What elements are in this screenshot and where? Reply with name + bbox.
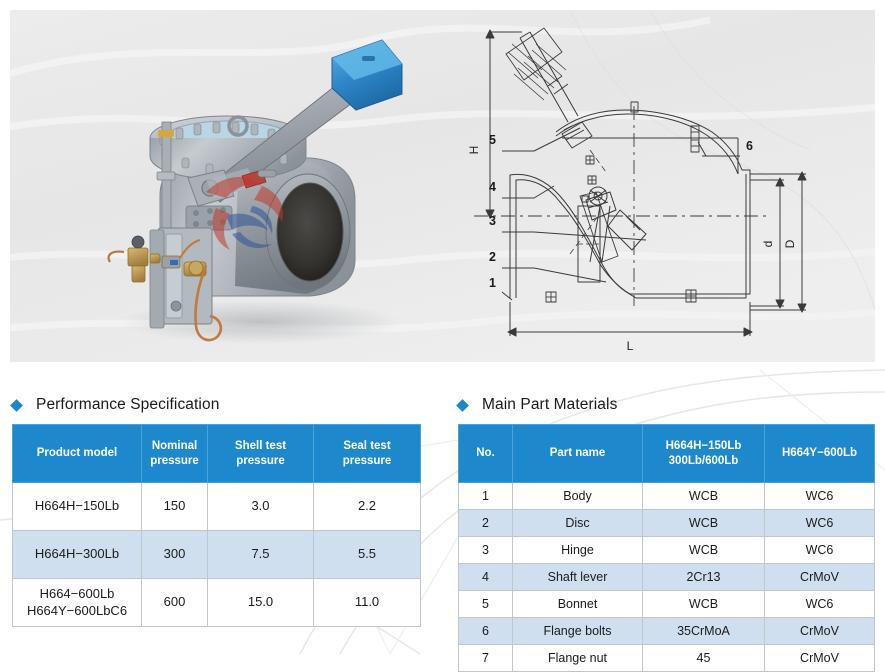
cell-shell: 3.0 <box>208 483 314 531</box>
cell-material-h664h: WCB <box>643 537 765 564</box>
table-row: 7 Flange nut 45 CrMoV <box>459 645 875 672</box>
cell-material-h664h: WCB <box>643 591 765 618</box>
cell-material-h664h: WCB <box>643 483 765 510</box>
col-header-shell-test-pressure: Shell test pressure <box>208 425 314 483</box>
col-header-h664y: H664Y−600Lb <box>765 425 875 483</box>
cell-no: 2 <box>459 510 513 537</box>
cell-no: 7 <box>459 645 513 672</box>
table-header-row: Product model Nominal pressure Shell tes… <box>13 425 421 483</box>
table-row: 5 Bonnet WCB WC6 <box>459 591 875 618</box>
cell-material-h664h: WCB <box>643 510 765 537</box>
dim-label-d-inner: d <box>761 241 775 248</box>
col-header-seal-test-pressure: Seal test pressure <box>314 425 421 483</box>
cell-no: 5 <box>459 591 513 618</box>
cell-material-h664h: 35CrMoA <box>643 618 765 645</box>
cell-part-name: Body <box>513 483 643 510</box>
section-title-performance: Performance Specification <box>36 396 219 414</box>
cell-part-name: Bonnet <box>513 591 643 618</box>
table-header-row: No. Part name H664H−150Lb 300Lb/600Lb H6… <box>459 425 875 483</box>
table-row: 3 Hinge WCB WC6 <box>459 537 875 564</box>
cell-no: 3 <box>459 537 513 564</box>
table-row: H664−600Lb H664Y−600LbC6 600 15.0 11.0 <box>13 579 421 627</box>
cell-shell: 7.5 <box>208 531 314 579</box>
col-header-part-name: Part name <box>513 425 643 483</box>
dim-label-l: L <box>627 339 634 353</box>
table-row: 4 Shaft lever 2Cr13 CrMoV <box>459 564 875 591</box>
col-header-no: No. <box>459 425 513 483</box>
cell-no: 6 <box>459 618 513 645</box>
cell-material-h664y: CrMoV <box>765 618 875 645</box>
cell-material-h664y: CrMoV <box>765 564 875 591</box>
cell-model: H664H−150Lb <box>13 483 142 531</box>
performance-specification-table: Product model Nominal pressure Shell tes… <box>12 424 421 627</box>
cell-no: 4 <box>459 564 513 591</box>
main-part-materials-table: No. Part name H664H−150Lb 300Lb/600Lb H6… <box>458 424 875 672</box>
cell-material-h664y: WC6 <box>765 483 875 510</box>
col-header-nominal-pressure: Nominal pressure <box>142 425 208 483</box>
cell-material-h664h: 45 <box>643 645 765 672</box>
table-row: H664H−300Lb 300 7.5 5.5 <box>13 531 421 579</box>
cell-material-h664y: CrMoV <box>765 645 875 672</box>
cell-model: H664H−300Lb <box>13 531 142 579</box>
diamond-bullet-icon <box>456 399 469 412</box>
dim-label-d-outer: D <box>783 239 797 248</box>
section-title-materials: Main Part Materials <box>482 396 617 414</box>
callout-3: 3 <box>489 214 496 228</box>
table-row: H664H−150Lb 150 3.0 2.2 <box>13 483 421 531</box>
callout-2: 2 <box>489 250 496 264</box>
cell-model: H664−600Lb H664Y−600LbC6 <box>13 579 142 627</box>
dim-label-h: H <box>467 146 481 155</box>
table-row: 1 Body WCB WC6 <box>459 483 875 510</box>
callout-4: 4 <box>489 180 496 194</box>
col-header-h664h: H664H−150Lb 300Lb/600Lb <box>643 425 765 483</box>
cell-seal: 5.5 <box>314 531 421 579</box>
cell-part-name: Flange bolts <box>513 618 643 645</box>
callout-5: 5 <box>489 133 496 147</box>
cell-seal: 11.0 <box>314 579 421 627</box>
cell-seal: 2.2 <box>314 483 421 531</box>
cell-part-name: Disc <box>513 510 643 537</box>
col-header-product-model: Product model <box>13 425 142 483</box>
technical-diagram: H L D d 5 4 3 2 1 6 <box>450 10 875 362</box>
cell-material-h664y: WC6 <box>765 591 875 618</box>
section-heading-performance: Performance Specification <box>12 396 219 414</box>
cell-part-name: Shaft lever <box>513 564 643 591</box>
product-photo <box>10 10 450 362</box>
callout-6: 6 <box>746 139 753 153</box>
cell-material-h664h: 2Cr13 <box>643 564 765 591</box>
cell-no: 1 <box>459 483 513 510</box>
table-row: 2 Disc WCB WC6 <box>459 510 875 537</box>
diamond-bullet-icon <box>10 399 23 412</box>
cell-shell: 15.0 <box>208 579 314 627</box>
cell-nominal: 600 <box>142 579 208 627</box>
callout-1: 1 <box>489 276 496 290</box>
cell-nominal: 150 <box>142 483 208 531</box>
cell-part-name: Flange nut <box>513 645 643 672</box>
cell-material-h664y: WC6 <box>765 537 875 564</box>
section-heading-materials: Main Part Materials <box>458 396 617 414</box>
cell-material-h664y: WC6 <box>765 510 875 537</box>
media-panel: H L D d 5 4 3 2 1 6 <box>10 10 875 362</box>
cell-nominal: 300 <box>142 531 208 579</box>
cell-part-name: Hinge <box>513 537 643 564</box>
table-row: 6 Flange bolts 35CrMoA CrMoV <box>459 618 875 645</box>
